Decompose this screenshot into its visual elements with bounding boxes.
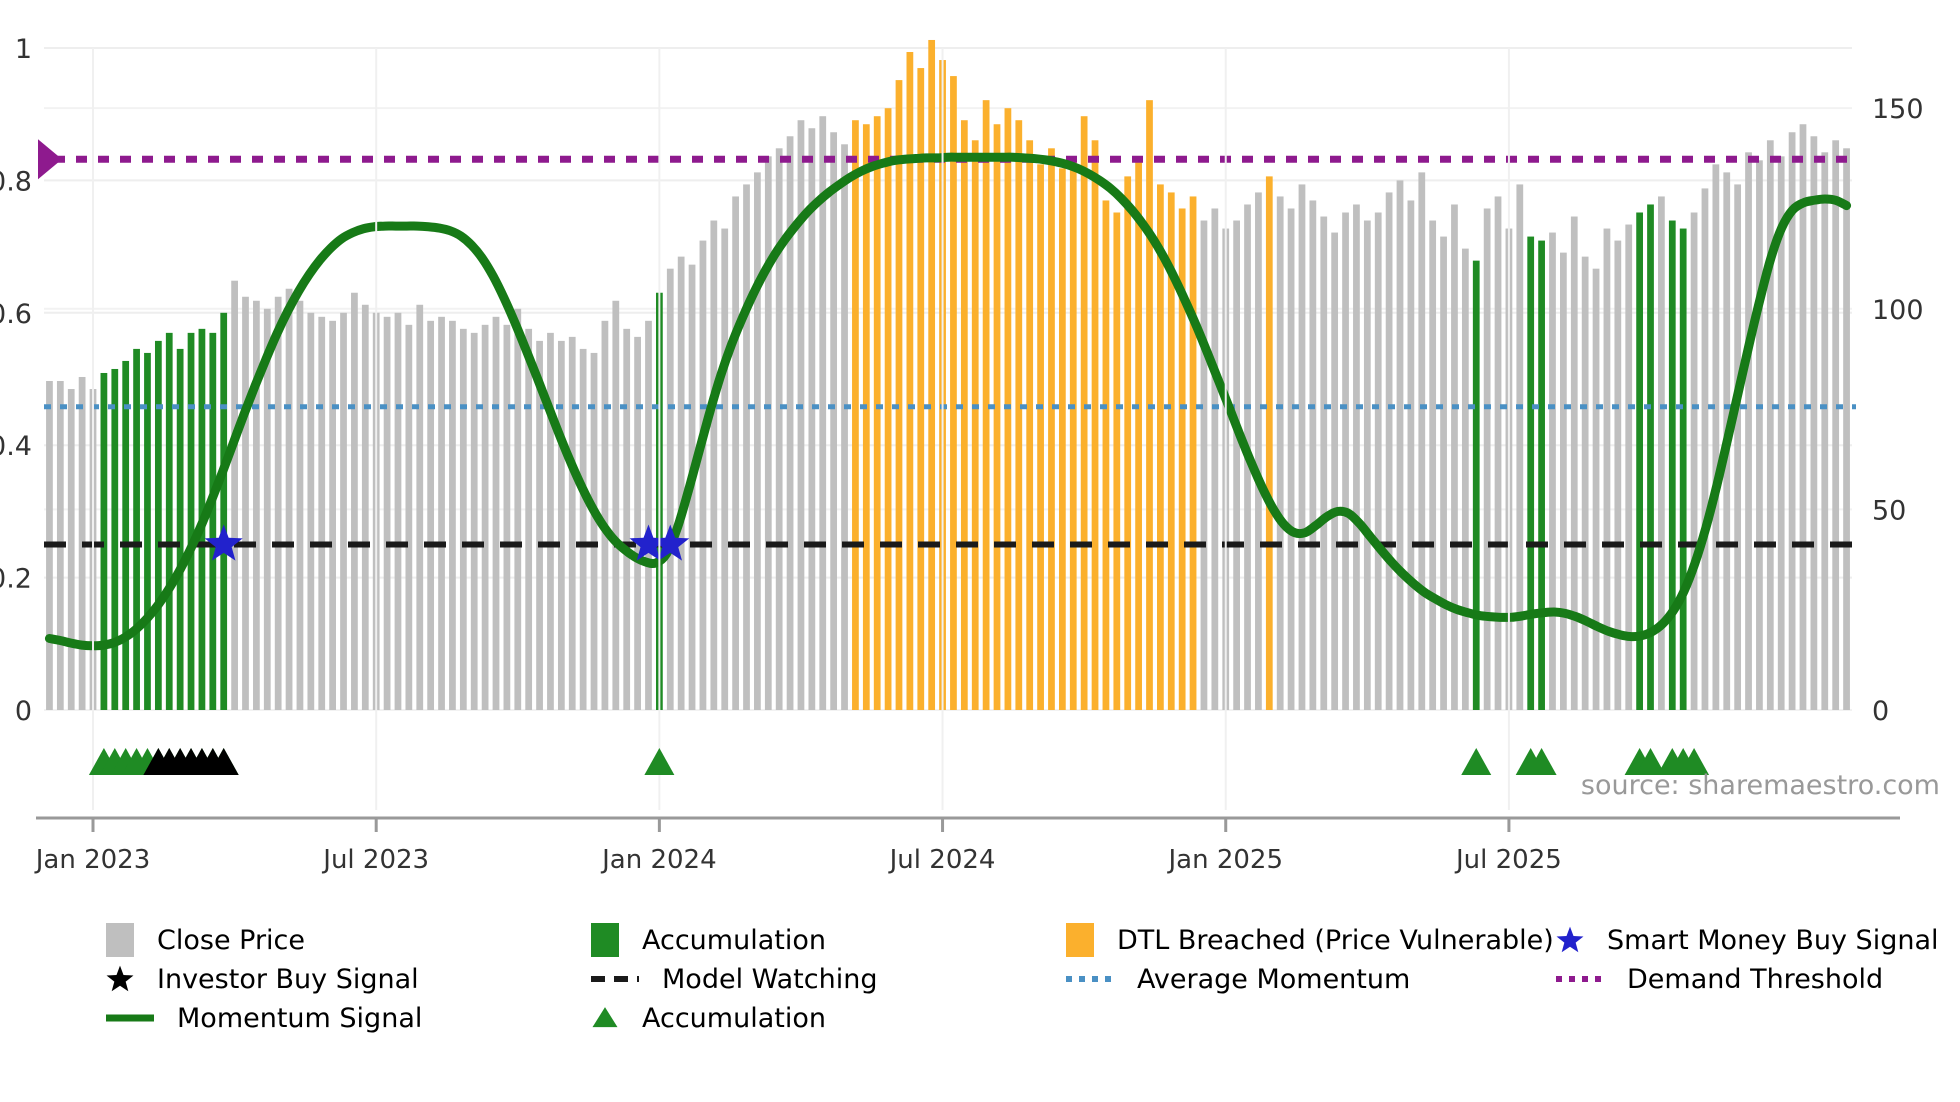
close-price-bar[interactable]: [1691, 212, 1698, 710]
star-icon: [105, 960, 135, 998]
close-price-bar[interactable]: [1756, 160, 1763, 710]
close-price-bar[interactable]: [1495, 196, 1502, 710]
close-price-bar[interactable]: [286, 289, 293, 710]
right-axis-tick-label: 150: [1872, 94, 1924, 125]
accumulation-bar[interactable]: [122, 361, 129, 710]
dtl-breached-bar[interactable]: [1266, 176, 1273, 710]
legend-row: Momentum SignalAccumulation: [0, 998, 1960, 1038]
close-price-bar[interactable]: [482, 325, 489, 710]
close-price-bar[interactable]: [307, 313, 314, 710]
legend-item-close-price[interactable]: Close Price: [105, 920, 305, 960]
close-price-bar[interactable]: [754, 172, 761, 710]
close-price-bar[interactable]: [1440, 237, 1447, 710]
source-watermark: source: sharemaestro.com: [1581, 770, 1940, 801]
close-price-bar[interactable]: [732, 196, 739, 710]
dtl-breached-bar[interactable]: [961, 120, 968, 710]
legend-item-accumulation-bar[interactable]: Accumulation: [590, 920, 826, 960]
close-price-bar[interactable]: [1571, 217, 1578, 710]
close-price-bar[interactable]: [678, 257, 685, 710]
right-axis-tick-label: 0: [1872, 696, 1889, 727]
close-price-bar[interactable]: [275, 297, 282, 710]
close-price-bar[interactable]: [1375, 212, 1382, 710]
close-price-bar[interactable]: [68, 389, 75, 710]
close-price-bar[interactable]: [449, 321, 456, 710]
close-price-bar[interactable]: [384, 317, 391, 710]
close-price-bar[interactable]: [841, 144, 848, 710]
accumulation-bar[interactable]: [209, 333, 216, 710]
accumulation-bar[interactable]: [1473, 261, 1480, 710]
x-axis-label: Jul 2023: [321, 845, 429, 875]
chart-legend: Close PriceAccumulationDTL Breached (Pri…: [0, 920, 1960, 1060]
dtl-breached-bar[interactable]: [852, 120, 859, 710]
close-price-bar[interactable]: [427, 321, 434, 710]
dtl-breached-bar[interactable]: [917, 68, 924, 710]
close-price-bar[interactable]: [504, 325, 511, 710]
close-price-bar[interactable]: [1821, 152, 1828, 710]
close-price-bar[interactable]: [1255, 192, 1262, 710]
dotted-line-icon: [1555, 960, 1605, 998]
close-price-bar[interactable]: [318, 317, 325, 710]
accumulation-bar[interactable]: [1538, 241, 1545, 710]
close-price-bar[interactable]: [329, 321, 336, 710]
legend-row: Close PriceAccumulationDTL Breached (Pri…: [0, 920, 1960, 960]
dtl-breached-bar[interactable]: [1092, 140, 1099, 710]
dtl-breached-bar[interactable]: [928, 40, 935, 710]
close-price-bar[interactable]: [1658, 196, 1665, 710]
close-price-bar[interactable]: [1560, 253, 1567, 710]
close-price-bar[interactable]: [1614, 241, 1621, 710]
legend-label: Smart Money Buy Signal: [1607, 925, 1939, 956]
left-axis-tick-label: 0.6: [0, 299, 32, 330]
close-price-bar[interactable]: [710, 221, 717, 710]
triangle-icon: [590, 999, 620, 1037]
legend-label: DTL Breached (Price Vulnerable): [1117, 925, 1554, 956]
legend-label: Accumulation: [642, 925, 826, 956]
close-price-bar[interactable]: [1277, 196, 1284, 710]
dtl-breached-bar[interactable]: [950, 76, 957, 710]
close-price-bar[interactable]: [1408, 200, 1415, 710]
close-price-bar[interactable]: [351, 293, 358, 710]
left-axis-tick-label: 0.2: [0, 564, 32, 595]
dtl-breached-bar[interactable]: [1135, 160, 1142, 710]
accumulation-bar[interactable]: [1669, 221, 1676, 710]
accumulation-bar[interactable]: [1680, 229, 1687, 710]
close-price-bar[interactable]: [547, 333, 554, 710]
x-axis-label: Jul 2025: [1454, 845, 1562, 875]
dtl-breached-bar[interactable]: [1026, 140, 1033, 710]
close-price-bar[interactable]: [438, 317, 445, 710]
legend-item-model-watching[interactable]: Model Watching: [590, 959, 877, 999]
close-price-bar[interactable]: [514, 309, 521, 710]
close-price-bar[interactable]: [493, 317, 500, 710]
legend-item-accumulation-triangle[interactable]: Accumulation: [590, 998, 826, 1038]
legend-label: Close Price: [157, 925, 305, 956]
close-price-bar[interactable]: [645, 321, 652, 710]
close-price-bar[interactable]: [667, 269, 674, 710]
close-price-bar[interactable]: [231, 281, 238, 710]
square-icon: [590, 921, 620, 959]
accumulation-bar[interactable]: [155, 341, 162, 710]
close-price-bar[interactable]: [1712, 164, 1719, 710]
price-momentum-chart: Jan 2023Jul 2023Jan 2024Jul 2024Jan 2025…: [0, 0, 1960, 920]
dtl-breached-bar[interactable]: [1124, 176, 1131, 710]
right-axis-tick-label: 100: [1872, 295, 1924, 326]
close-price-bar[interactable]: [1397, 180, 1404, 710]
legend-label: Average Momentum: [1137, 964, 1410, 995]
accumulation-bar[interactable]: [111, 369, 118, 710]
dtl-breached-bar[interactable]: [1113, 212, 1120, 710]
dtl-breached-bar[interactable]: [1190, 196, 1197, 710]
legend-item-average-momentum[interactable]: Average Momentum: [1065, 959, 1410, 999]
dtl-breached-bar[interactable]: [874, 116, 881, 710]
accumulation-bar[interactable]: [166, 333, 173, 710]
dtl-breached-bar[interactable]: [972, 140, 979, 710]
left-axis-tick-label: 0.8: [0, 166, 32, 197]
close-price-bar[interactable]: [253, 301, 260, 710]
dashed-line-icon: [590, 960, 640, 998]
legend-label: Momentum Signal: [177, 1003, 422, 1034]
dotted-line-icon: [1065, 960, 1115, 998]
x-axis-label: Jan 2024: [600, 845, 717, 875]
close-price-bar[interactable]: [242, 297, 249, 710]
close-price-bar[interactable]: [787, 136, 794, 710]
legend-item-smart-money-buy-signal[interactable]: Smart Money Buy Signal: [1555, 920, 1939, 960]
dtl-breached-bar[interactable]: [907, 52, 914, 710]
close-price-bar[interactable]: [721, 229, 728, 710]
close-price-bar[interactable]: [1582, 257, 1589, 710]
close-price-bar[interactable]: [569, 337, 576, 710]
close-price-bar[interactable]: [623, 329, 630, 710]
legend-item-dtl-breached[interactable]: DTL Breached (Price Vulnerable): [1065, 920, 1554, 960]
close-price-bar[interactable]: [416, 305, 423, 710]
legend-label: Investor Buy Signal: [157, 964, 419, 995]
close-price-bar[interactable]: [1745, 152, 1752, 710]
close-price-bar[interactable]: [830, 132, 837, 710]
accumulation-bar[interactable]: [188, 333, 195, 710]
dtl-breached-bar[interactable]: [863, 124, 870, 710]
square-icon: [1065, 921, 1095, 959]
close-price-bar[interactable]: [765, 156, 772, 710]
close-price-bar[interactable]: [1800, 124, 1807, 710]
accumulation-bar[interactable]: [101, 373, 108, 710]
accumulation-bar[interactable]: [220, 313, 227, 710]
close-price-bar[interactable]: [612, 301, 619, 710]
close-price-bar[interactable]: [1418, 172, 1425, 710]
close-price-bar[interactable]: [340, 313, 347, 710]
close-price-bar[interactable]: [405, 325, 412, 710]
close-price-bar[interactable]: [1843, 148, 1850, 710]
close-price-bar[interactable]: [1353, 204, 1360, 710]
close-price-bar[interactable]: [297, 301, 304, 710]
close-price-bar[interactable]: [1320, 217, 1327, 710]
legend-item-momentum-signal[interactable]: Momentum Signal: [105, 998, 422, 1038]
close-price-bar[interactable]: [1364, 221, 1371, 710]
close-price-bar[interactable]: [362, 305, 369, 710]
x-axis-label: Jan 2023: [34, 845, 151, 875]
close-price-bar[interactable]: [1832, 140, 1839, 710]
right-axis-tick-label: 50: [1872, 495, 1906, 526]
legend-row: Investor Buy SignalModel WatchingAverage…: [0, 959, 1960, 999]
close-price-bar[interactable]: [1462, 249, 1469, 710]
close-price-bar[interactable]: [1451, 204, 1458, 710]
close-price-bar[interactable]: [1429, 221, 1436, 710]
close-price-bar[interactable]: [1288, 208, 1295, 710]
close-price-bar[interactable]: [1201, 221, 1208, 710]
legend-label: Accumulation: [642, 1003, 826, 1034]
dtl-breached-bar[interactable]: [896, 80, 903, 710]
close-price-bar[interactable]: [525, 329, 532, 710]
close-price-bar[interactable]: [1484, 208, 1491, 710]
accumulation-bar[interactable]: [177, 349, 184, 710]
solid-line-icon: [105, 999, 155, 1037]
close-price-bar[interactable]: [558, 341, 565, 710]
close-price-bar[interactable]: [1211, 208, 1218, 710]
dtl-breached-bar[interactable]: [1015, 120, 1022, 710]
close-price-bar[interactable]: [1386, 192, 1393, 710]
legend-label: Demand Threshold: [1627, 964, 1883, 995]
close-price-bar[interactable]: [471, 333, 478, 710]
close-price-bar[interactable]: [1549, 233, 1556, 710]
left-axis-tick-label: 1: [15, 34, 32, 65]
close-price-bar[interactable]: [798, 120, 805, 710]
close-price-bar[interactable]: [700, 241, 707, 710]
dtl-breached-bar[interactable]: [1048, 148, 1055, 710]
dtl-breached-bar[interactable]: [994, 124, 1001, 710]
close-price-bar[interactable]: [1702, 188, 1709, 710]
dtl-breached-bar[interactable]: [1059, 168, 1066, 710]
left-axis-tick-label: 0: [15, 696, 32, 727]
accumulation-bar[interactable]: [1527, 237, 1534, 710]
close-price-bar[interactable]: [1299, 184, 1306, 710]
close-price-bar[interactable]: [1811, 136, 1818, 710]
accumulation-bar[interactable]: [133, 349, 140, 710]
close-price-bar[interactable]: [743, 184, 750, 710]
legend-label: Model Watching: [662, 964, 877, 995]
close-price-bar[interactable]: [460, 329, 467, 710]
dtl-breached-bar[interactable]: [1081, 116, 1088, 710]
close-price-bar[interactable]: [1516, 184, 1523, 710]
close-price-bar[interactable]: [1767, 140, 1774, 710]
close-price-bar[interactable]: [1604, 229, 1611, 710]
x-axis-label: Jan 2025: [1166, 845, 1283, 875]
close-price-bar[interactable]: [1734, 184, 1741, 710]
close-price-bar[interactable]: [395, 313, 402, 710]
dtl-breached-bar[interactable]: [1070, 160, 1077, 710]
close-price-bar[interactable]: [634, 337, 641, 710]
dtl-breached-bar[interactable]: [885, 108, 892, 710]
square-icon: [105, 921, 135, 959]
close-price-bar[interactable]: [1342, 212, 1349, 710]
close-price-bar[interactable]: [1233, 221, 1240, 710]
legend-item-investor-buy-signal[interactable]: Investor Buy Signal: [105, 959, 419, 999]
close-price-bar[interactable]: [1309, 200, 1316, 710]
close-price-bar[interactable]: [776, 148, 783, 710]
left-axis-tick-label: 0.4: [0, 431, 32, 462]
close-price-bar[interactable]: [580, 349, 587, 710]
close-price-bar[interactable]: [1331, 233, 1338, 710]
close-price-bar[interactable]: [1593, 269, 1600, 710]
legend-item-demand-threshold[interactable]: Demand Threshold: [1555, 959, 1883, 999]
x-axis-label: Jul 2024: [888, 845, 996, 875]
dtl-breached-bar[interactable]: [1103, 200, 1110, 710]
star-icon: [1555, 921, 1585, 959]
dtl-breached-bar[interactable]: [1037, 164, 1044, 710]
close-price-bar[interactable]: [602, 321, 609, 710]
